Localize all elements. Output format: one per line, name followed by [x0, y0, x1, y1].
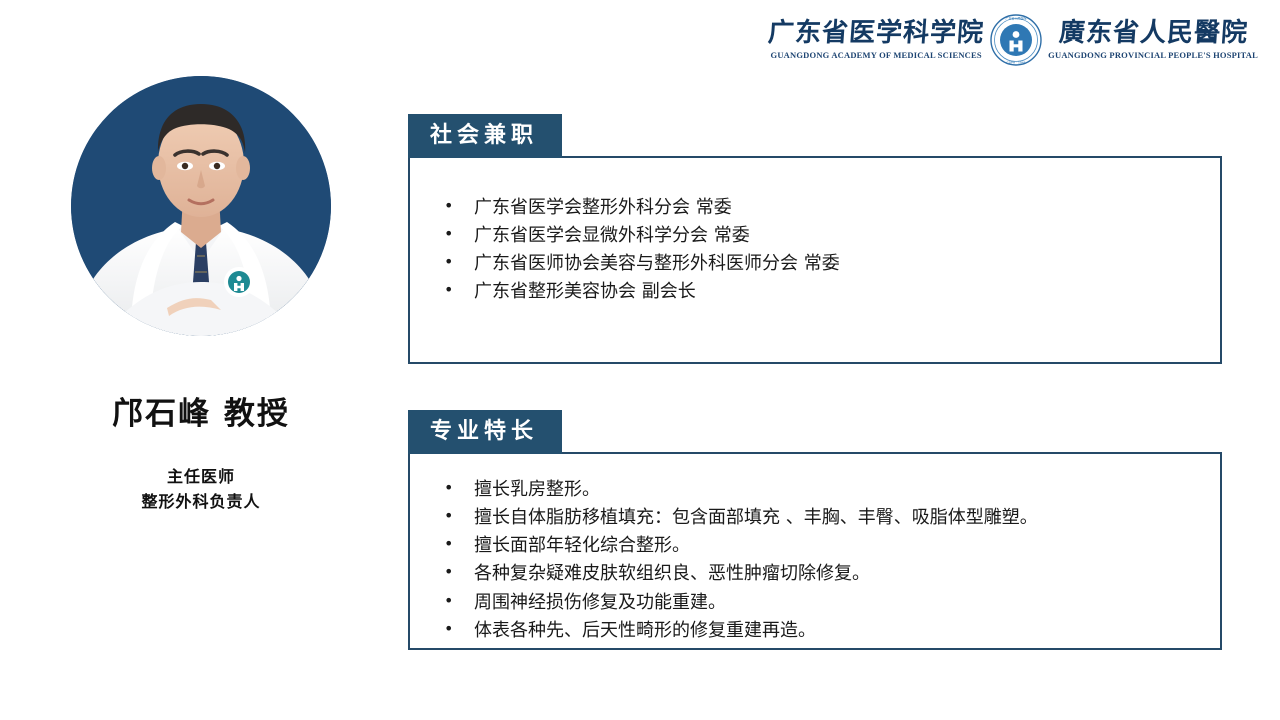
- panel-social-positions-body: 广东省医学会整形外科分会 常委 广东省医学会显微外科学分会 常委 广东省医师协会…: [408, 156, 1222, 364]
- list-item: 周围神经损伤修复及功能重建。: [430, 589, 1200, 617]
- doctor-portrait-photo: [71, 76, 331, 336]
- professional-specialties-list: 擅长乳房整形。 擅长自体脂肪移植填充：包含面部填充 、丰胸、丰臀、吸脂体型雕塑。…: [430, 476, 1200, 644]
- svg-text:广东省人民医院: 广东省人民医院: [1006, 16, 1027, 21]
- list-item: 广东省医师协会美容与整形外科医师分会 常委: [430, 250, 1200, 278]
- social-positions-list: 广东省医学会整形外科分会 常委 广东省医学会显微外科学分会 常委 广东省医师协会…: [430, 194, 1200, 306]
- list-item: 广东省整形美容协会 副会长: [430, 278, 1200, 306]
- panel-professional-specialties: 专业特长 擅长乳房整形。 擅长自体脂肪移植填充：包含面部填充 、丰胸、丰臀、吸脂…: [408, 410, 1222, 650]
- academy-logo-block: 广东省医学科学院 GUANGDONG ACADEMY OF MEDICAL SC…: [768, 20, 984, 60]
- svg-text:GDPH · 1946: GDPH · 1946: [1007, 61, 1026, 65]
- list-item: 擅长自体脂肪移植填充：包含面部填充 、丰胸、丰臀、吸脂体型雕塑。: [430, 504, 1200, 532]
- list-item: 广东省医学会显微外科学分会 常委: [430, 222, 1200, 250]
- hospital-name-en: GUANGDONG PROVINCIAL PEOPLE'S HOSPITAL: [1048, 51, 1258, 60]
- hospital-branding-header: 广东省医学科学院 GUANGDONG ACADEMY OF MEDICAL SC…: [768, 14, 1258, 66]
- hospital-logo-block: 廣东省人民醫院 GUANGDONG PROVINCIAL PEOPLE'S HO…: [1048, 20, 1258, 60]
- list-item: 体表各种先、后天性畸形的修复重建再造。: [430, 617, 1200, 645]
- doctor-profile-column: 邝石峰 教授 主任医师 整形外科负责人: [36, 76, 366, 515]
- doctor-titles: 主任医师 整形外科负责人: [36, 465, 366, 515]
- doctor-title-line-2: 整形外科负责人: [36, 490, 366, 515]
- academy-name-cn: 广东省医学科学院: [767, 20, 985, 46]
- list-item: 擅长乳房整形。: [430, 476, 1200, 504]
- panel-social-positions: 社会兼职 广东省医学会整形外科分会 常委 广东省医学会显微外科学分会 常委 广东…: [408, 114, 1222, 364]
- hospital-emblem-icon: 广东省人民医院 GDPH · 1946: [990, 14, 1042, 66]
- panel-professional-specialties-body: 擅长乳房整形。 擅长自体脂肪移植填充：包含面部填充 、丰胸、丰臀、吸脂体型雕塑。…: [408, 452, 1222, 650]
- list-item: 广东省医学会整形外科分会 常委: [430, 194, 1200, 222]
- panel-social-positions-title: 社会兼职: [408, 114, 562, 158]
- list-item: 各种复杂疑难皮肤软组织良、恶性肿瘤切除修复。: [430, 560, 1200, 588]
- academy-name-en: GUANGDONG ACADEMY OF MEDICAL SCIENCES: [771, 51, 982, 60]
- list-item: 擅长面部年轻化综合整形。: [430, 532, 1200, 560]
- doctor-title-line-1: 主任医师: [36, 465, 366, 490]
- doctor-name: 邝石峰 教授: [36, 388, 366, 433]
- panel-professional-specialties-title: 专业特长: [408, 410, 562, 454]
- hospital-name-cn: 廣东省人民醫院: [1058, 20, 1249, 46]
